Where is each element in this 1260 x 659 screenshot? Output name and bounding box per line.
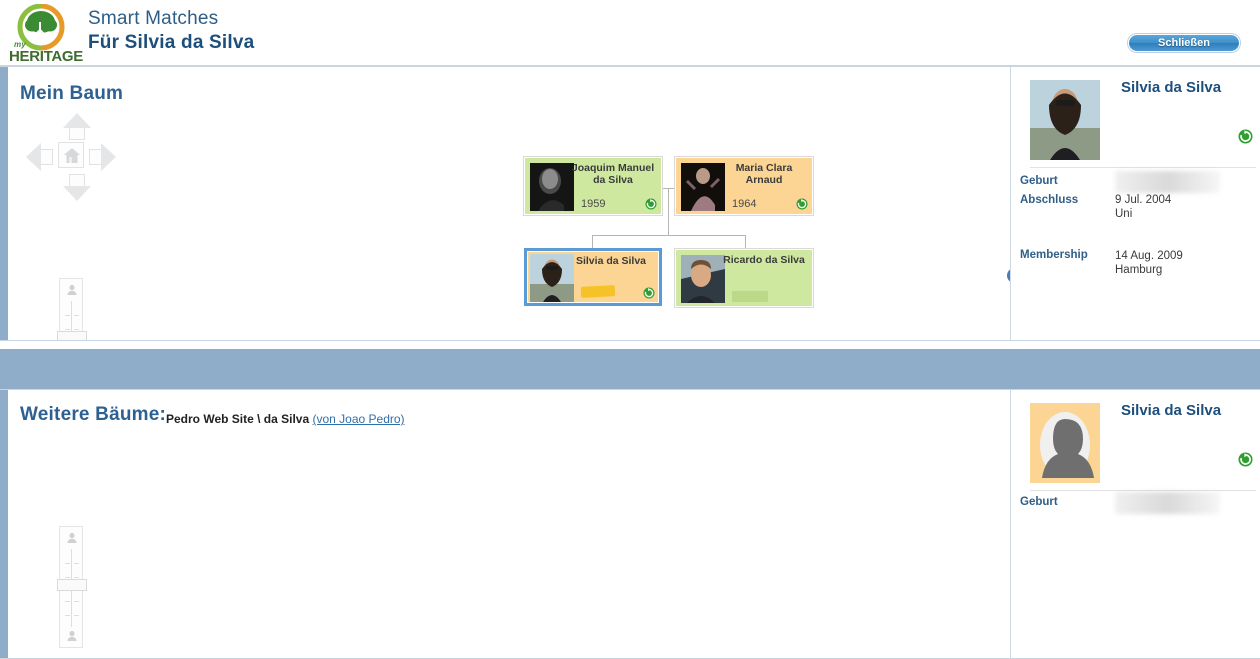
refresh-icon[interactable]	[796, 198, 808, 210]
detail-label-graduation: Abschluss	[1020, 194, 1078, 206]
detail-avatar	[1030, 80, 1100, 160]
page-title: Smart Matches	[88, 8, 218, 30]
nav-left-arrow-icon[interactable]	[26, 143, 41, 171]
refresh-icon[interactable]	[645, 198, 657, 210]
node-photo	[681, 163, 725, 211]
node-year: 1959	[581, 198, 605, 210]
node-year: 1964	[732, 198, 756, 210]
nav-down-arrow-icon[interactable]	[63, 186, 91, 201]
nav-left-button[interactable]	[41, 149, 53, 165]
detail-label-birth: Geburt	[1020, 175, 1058, 187]
close-button[interactable]: Schließen	[1128, 34, 1240, 52]
nav-right-button[interactable]	[89, 149, 101, 165]
person-small-icon	[66, 284, 78, 296]
smart-matches-page: my HERITAGE Smart Matches Für Silvia da …	[0, 0, 1260, 659]
silhouette-icon	[1030, 403, 1100, 483]
zoom-tick	[74, 329, 79, 330]
tree-nav-pad	[24, 111, 118, 203]
tree-node-card[interactable]: Ricardo da Silva	[675, 249, 813, 307]
zoom-tick	[65, 615, 70, 616]
page-header: my HERITAGE Smart Matches Für Silvia da …	[0, 0, 1260, 66]
zoom-tick	[74, 577, 79, 578]
detail-divider	[1030, 490, 1256, 491]
my-tree-title: Mein Baum	[20, 83, 123, 105]
tree-node-card-selected[interactable]: Silvia da Silva	[524, 248, 662, 306]
detail-label-birth: Geburt	[1020, 496, 1058, 508]
tree-connector	[592, 235, 745, 236]
zoom-tick	[65, 601, 70, 602]
tree-node-card[interactable]: Maria Clara Arnaud 1964	[675, 157, 813, 215]
tree-zoom-slider[interactable]	[59, 278, 83, 340]
zoom-tick	[74, 563, 79, 564]
section-separator-band	[0, 349, 1260, 389]
other-trees-panel: Weitere Bäume: Pedro Web Site \ da Silva…	[0, 389, 1260, 659]
tree-zoom-slider[interactable]	[59, 526, 83, 648]
detail-person-name: Silvia da Silva	[1121, 402, 1221, 419]
other-trees-source: Pedro Web Site \ da Silva (von Joao Pedr…	[166, 412, 405, 426]
node-year-redacted	[581, 285, 616, 298]
node-name: Silvia da Silva	[569, 255, 653, 267]
zoom-tick	[74, 615, 79, 616]
nav-down-button[interactable]	[69, 174, 85, 186]
page-subtitle: Für Silvia da Silva	[88, 32, 254, 54]
zoom-tick	[65, 577, 70, 578]
zoom-slider-thumb[interactable]	[57, 579, 87, 591]
detail-avatar	[1030, 403, 1100, 483]
myheritage-logo[interactable]: my HERITAGE	[6, 4, 78, 64]
logo-heritage-text: HERITAGE	[9, 48, 83, 65]
detail-label-membership: Membership	[1020, 249, 1088, 261]
nav-up-button[interactable]	[69, 128, 85, 140]
refresh-icon[interactable]	[1238, 129, 1253, 144]
tree-connector	[668, 188, 669, 235]
zoom-tick	[65, 329, 70, 330]
zoom-tick	[74, 601, 79, 602]
zoom-slider-thumb[interactable]	[57, 331, 87, 340]
refresh-icon[interactable]	[1238, 452, 1253, 467]
nav-up-arrow-icon[interactable]	[63, 113, 91, 128]
detail-divider	[1030, 167, 1256, 168]
node-name: Maria Clara Arnaud	[722, 162, 806, 186]
tree-node-card[interactable]: Joaquim Manuel da Silva 1959	[524, 157, 662, 215]
node-year-redacted	[732, 291, 768, 302]
home-icon	[62, 146, 82, 166]
other-tree-canvas[interactable]: Weitere Bäume: Pedro Web Site \ da Silva…	[8, 390, 1010, 658]
tree-connector	[745, 235, 746, 249]
other-trees-title: Weitere Bäume:	[20, 404, 166, 426]
my-tree-canvas[interactable]: Mein Baum	[8, 67, 1010, 340]
detail-person-name: Silvia da Silva	[1121, 79, 1221, 96]
detail-value-membership: 14 Aug. 2009 Hamburg	[1115, 249, 1183, 277]
zoom-tick	[65, 563, 70, 564]
panel-rail	[0, 67, 8, 340]
person-small-icon	[66, 532, 78, 544]
zoom-tick	[65, 315, 70, 316]
nav-home-button[interactable]	[58, 142, 84, 168]
refresh-icon[interactable]	[643, 287, 655, 299]
node-photo	[530, 254, 574, 302]
other-trees-source-link[interactable]: (von Joao Pedro)	[313, 412, 405, 426]
nav-right-arrow-icon[interactable]	[101, 143, 116, 171]
other-tree-detail-panel: Silvia da Silva Geburt	[1011, 390, 1260, 658]
my-tree-panel: Mein Baum	[0, 66, 1260, 341]
other-trees-source-name: Pedro Web Site \ da Silva	[166, 412, 309, 426]
node-photo	[530, 163, 574, 211]
zoom-tick	[74, 315, 79, 316]
panel-rail	[0, 390, 8, 658]
tree-connector	[592, 235, 593, 249]
node-name: Joaquim Manuel da Silva	[571, 162, 655, 186]
node-name: Ricardo da Silva	[722, 254, 806, 266]
person-small-icon	[66, 630, 78, 642]
node-photo	[681, 255, 725, 303]
detail-value-graduation: 9 Jul. 2004 Uni	[1115, 193, 1171, 221]
my-tree-detail-panel: Silvia da Silva Geburt Abschluss 9 Jul. …	[1011, 67, 1260, 340]
detail-value-birth-redacted	[1115, 492, 1220, 514]
detail-value-birth-redacted	[1115, 171, 1220, 193]
